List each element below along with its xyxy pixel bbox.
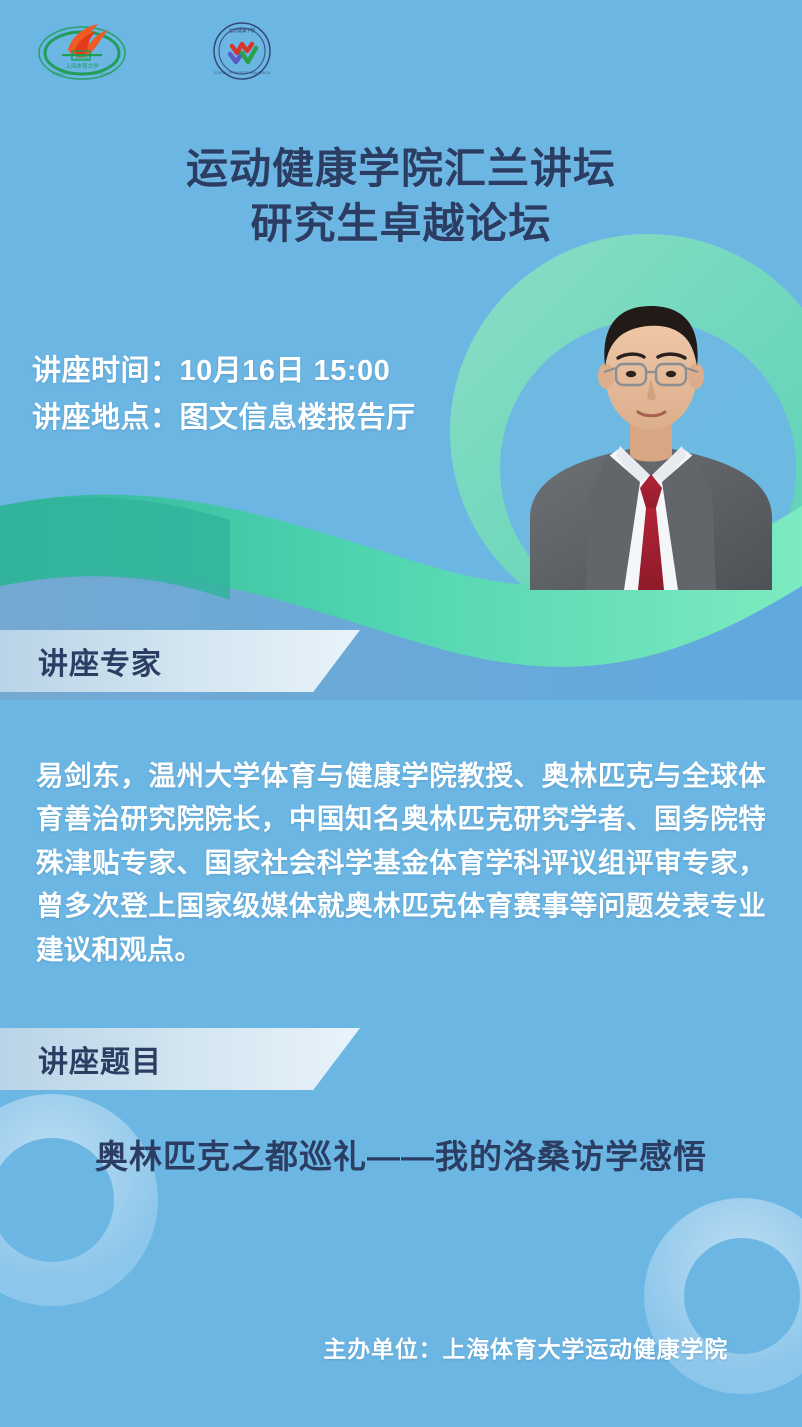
logo-school: 运动健康学院 SCHOOL OF EXERCISE AND HEALTH [206, 20, 278, 87]
svg-text:上海体育大学: 上海体育大学 [65, 62, 99, 70]
svg-text:SHANGHAI UNIVERSITY OF SPORT: SHANGHAI UNIVERSITY OF SPORT [52, 72, 113, 76]
lecture-time: 讲座时间：10月16日 15:00 [32, 348, 416, 395]
section-banner-expert: 讲座专家 [0, 630, 360, 692]
section-banner-expert-label: 讲座专家 [38, 639, 162, 683]
shanghai-university-of-sport-emblem-icon: 1952 上海体育大学 SHANGHAI UNIVERSITY OF SPORT [36, 20, 128, 82]
svg-text:SCHOOL OF EXERCISE AND HEALTH: SCHOOL OF EXERCISE AND HEALTH [214, 71, 271, 75]
lecture-info: 讲座时间：10月16日 15:00 讲座地点：图文信息楼报告厅 [32, 348, 416, 442]
section-banner-topic: 讲座题目 [0, 1028, 360, 1090]
section-banner-topic-label: 讲座题目 [38, 1037, 162, 1081]
svg-text:运动健康学院: 运动健康学院 [229, 27, 256, 34]
logo-row: 1952 上海体育大学 SHANGHAI UNIVERSITY OF SPORT… [36, 20, 278, 87]
speaker-portrait-image [520, 268, 782, 590]
logo-university: 1952 上海体育大学 SHANGHAI UNIVERSITY OF SPORT [36, 20, 128, 87]
expert-bio: 易剑东，温州大学体育与健康学院教授、奥林匹克与全球体育善治研究院院长，中国知名奥… [36, 754, 766, 971]
logo-university-year: 1952 [75, 55, 89, 61]
title-line-1: 运动健康学院汇兰讲坛 [0, 142, 802, 197]
school-of-exercise-and-health-emblem-icon: 运动健康学院 SCHOOL OF EXERCISE AND HEALTH [206, 20, 278, 82]
lecture-poster: 1952 上海体育大学 SHANGHAI UNIVERSITY OF SPORT… [0, 0, 802, 1427]
title-line-2: 研究生卓越论坛 [0, 197, 802, 252]
page-title: 运动健康学院汇兰讲坛 研究生卓越论坛 [0, 142, 802, 251]
speaker-portrait [520, 268, 782, 590]
lecture-topic-title: 奥林匹克之都巡礼——我的洛桑访学感悟 [0, 1130, 802, 1178]
organizer-footer: 主办单位：上海体育大学运动健康学院 [0, 1330, 802, 1364]
lecture-place: 讲座地点：图文信息楼报告厅 [32, 395, 416, 442]
